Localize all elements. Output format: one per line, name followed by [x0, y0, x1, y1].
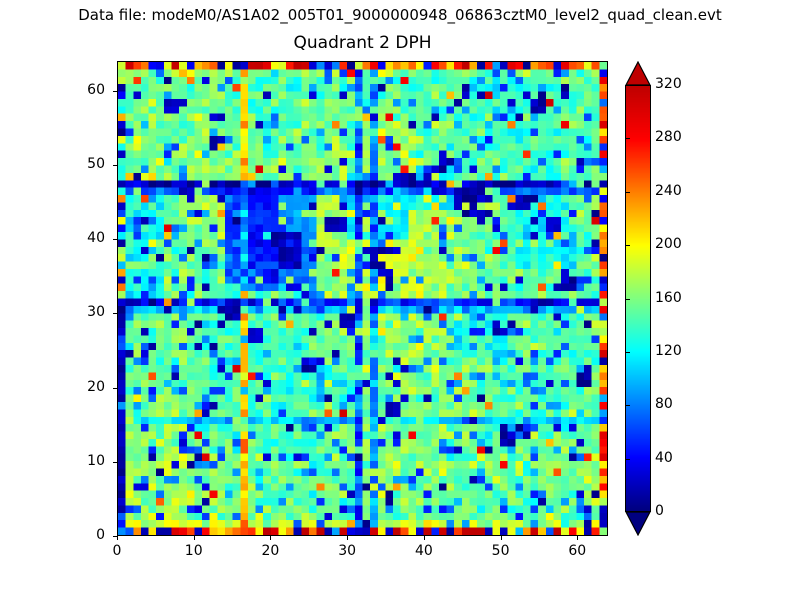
data-file-label: Data file: modeM0/AS1A02_005T01_90000009… [0, 6, 800, 24]
colorbar-tick-label: 0 [655, 503, 664, 519]
x-tick-label: 20 [240, 543, 300, 559]
heatmap-axes [117, 61, 608, 536]
colorbar-tick-label: 280 [655, 129, 682, 145]
y-tick-label: 30 [45, 304, 105, 320]
x-tick-label: 0 [87, 543, 147, 559]
colorbar-tick-mark [625, 299, 630, 300]
colorbar-tick-mark [625, 459, 630, 460]
colorbar-tick-label: 200 [655, 236, 682, 252]
x-tick-label: 50 [471, 543, 531, 559]
colorbar: 04080120160200240280320 [625, 61, 651, 536]
x-tick-mark [194, 536, 195, 540]
x-tick-mark [424, 536, 425, 540]
y-tick-mark [113, 462, 117, 463]
y-tick-mark [113, 536, 117, 537]
colorbar-tick-label: 80 [655, 396, 673, 412]
x-tick-label: 30 [317, 543, 377, 559]
dph-heatmap-image [118, 62, 607, 535]
colorbar-tick-label: 320 [655, 76, 682, 92]
x-tick-mark [347, 536, 348, 540]
y-tick-label: 60 [45, 82, 105, 98]
x-tick-mark [577, 536, 578, 540]
colorbar-tick-label: 160 [655, 290, 682, 306]
y-tick-label: 20 [45, 379, 105, 395]
x-tick-mark [117, 536, 118, 540]
x-tick-mark [270, 536, 271, 540]
y-tick-mark [113, 313, 117, 314]
x-tick-label: 60 [547, 543, 607, 559]
colorbar-max-arrow [625, 61, 651, 86]
colorbar-tick-mark [625, 138, 630, 139]
colorbar-tick-mark [625, 352, 630, 353]
x-tick-label: 10 [164, 543, 224, 559]
colorbar-tick-mark [625, 245, 630, 246]
colorbar-tick-label: 120 [655, 343, 682, 359]
y-tick-label: 10 [45, 453, 105, 469]
figure-canvas: Data file: modeM0/AS1A02_005T01_90000009… [0, 0, 800, 600]
y-tick-label: 40 [45, 230, 105, 246]
colorbar-tick-mark [625, 405, 630, 406]
y-tick-mark [113, 91, 117, 92]
y-tick-label: 0 [45, 527, 105, 543]
plot-title: Quadrant 2 DPH [117, 33, 608, 53]
colorbar-tick-mark [625, 192, 630, 193]
x-tick-label: 40 [394, 543, 454, 559]
y-tick-mark [113, 239, 117, 240]
y-tick-mark [113, 388, 117, 389]
colorbar-tick-label: 240 [655, 183, 682, 199]
x-tick-mark [501, 536, 502, 540]
y-tick-mark [113, 165, 117, 166]
colorbar-min-arrow [625, 511, 651, 536]
y-tick-label: 50 [45, 156, 105, 172]
colorbar-tick-label: 40 [655, 450, 673, 466]
